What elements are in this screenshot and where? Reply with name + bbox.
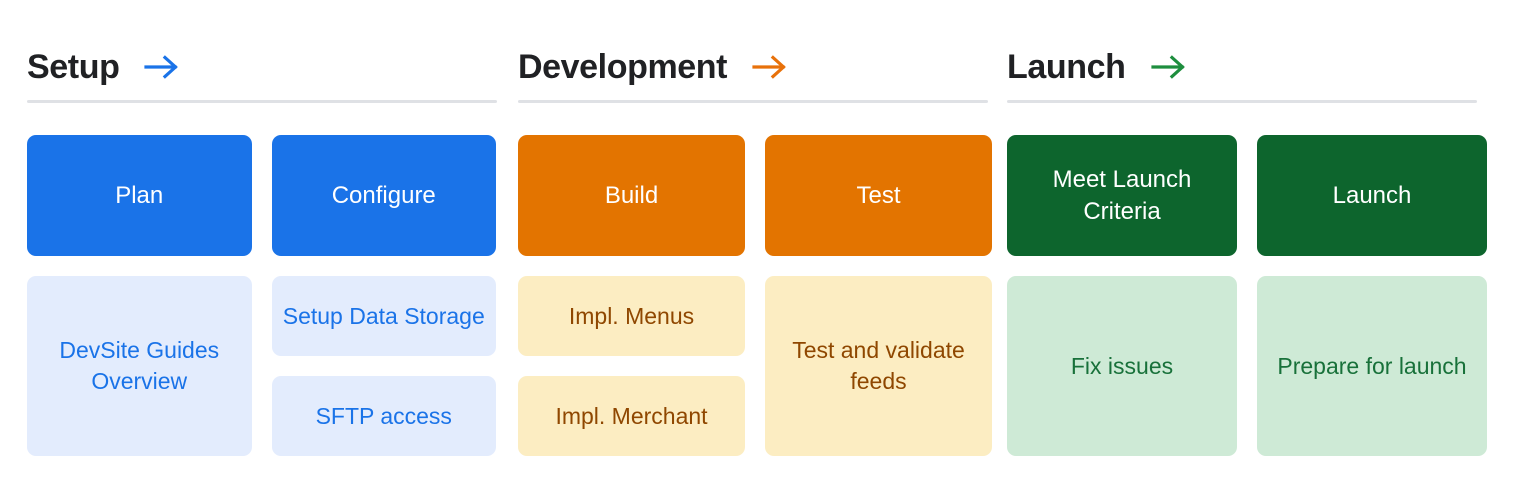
cards-row-launch: Meet Launch Criteria Fix issues Launch P… — [1007, 135, 1491, 456]
sub-stack-test: Test and validate feeds — [765, 276, 992, 456]
cards-row-development: Build Impl. Menus Impl. Merchant Test Te… — [518, 135, 992, 456]
track-plan: Plan DevSite Guides Overview — [27, 135, 252, 456]
track-configure: Configure Setup Data Storage SFTP access — [272, 135, 497, 456]
roadmap-board: Setup Plan DevSite Guides Overview Confi… — [0, 0, 1518, 484]
subcard-fix-issues[interactable]: Fix issues — [1007, 276, 1237, 456]
phase-header-launch: Launch — [1007, 0, 1491, 100]
card-test[interactable]: Test — [765, 135, 992, 256]
subcard-prepare-for-launch[interactable]: Prepare for launch — [1257, 276, 1487, 456]
phase-divider-setup — [27, 100, 497, 103]
phase-column-launch: Launch Meet Launch Criteria Fix issues L… — [992, 0, 1518, 484]
subcard-impl-menus[interactable]: Impl. Menus — [518, 276, 745, 356]
page-title-development: Development — [518, 50, 727, 84]
arrow-right-icon — [751, 52, 789, 82]
track-test: Test Test and validate feeds — [765, 135, 992, 456]
subcard-test-and-validate-feeds[interactable]: Test and validate feeds — [765, 276, 992, 456]
page-title-launch: Launch — [1007, 50, 1126, 84]
phase-divider-launch — [1007, 100, 1477, 103]
subcard-setup-data-storage[interactable]: Setup Data Storage — [272, 276, 497, 356]
track-meet-launch-criteria: Meet Launch Criteria Fix issues — [1007, 135, 1237, 456]
subcard-sftp-access[interactable]: SFTP access — [272, 376, 497, 456]
card-build[interactable]: Build — [518, 135, 745, 256]
arrow-right-icon — [1150, 52, 1188, 82]
card-plan[interactable]: Plan — [27, 135, 252, 256]
arrow-right-icon — [143, 52, 181, 82]
sub-stack-launch: Prepare for launch — [1257, 276, 1487, 456]
sub-stack-build: Impl. Menus Impl. Merchant — [518, 276, 745, 456]
sub-stack-meet-launch-criteria: Fix issues — [1007, 276, 1237, 456]
phase-divider-development — [518, 100, 988, 103]
card-meet-launch-criteria[interactable]: Meet Launch Criteria — [1007, 135, 1237, 256]
phase-column-setup: Setup Plan DevSite Guides Overview Confi… — [0, 0, 496, 484]
page-title: Setup — [27, 50, 119, 84]
sub-stack-plan: DevSite Guides Overview — [27, 276, 252, 456]
sub-stack-configure: Setup Data Storage SFTP access — [272, 276, 497, 456]
subcard-devsite-guides-overview[interactable]: DevSite Guides Overview — [27, 276, 252, 456]
phase-header-development: Development — [518, 0, 992, 100]
cards-row-setup: Plan DevSite Guides Overview Configure S… — [27, 135, 496, 456]
phase-header-setup: Setup — [27, 0, 496, 100]
subcard-impl-merchant[interactable]: Impl. Merchant — [518, 376, 745, 456]
track-build: Build Impl. Menus Impl. Merchant — [518, 135, 745, 456]
phase-column-development: Development Build Impl. Menus Impl. Merc… — [496, 0, 992, 484]
card-configure[interactable]: Configure — [272, 135, 497, 256]
track-launch: Launch Prepare for launch — [1257, 135, 1487, 456]
card-launch[interactable]: Launch — [1257, 135, 1487, 256]
